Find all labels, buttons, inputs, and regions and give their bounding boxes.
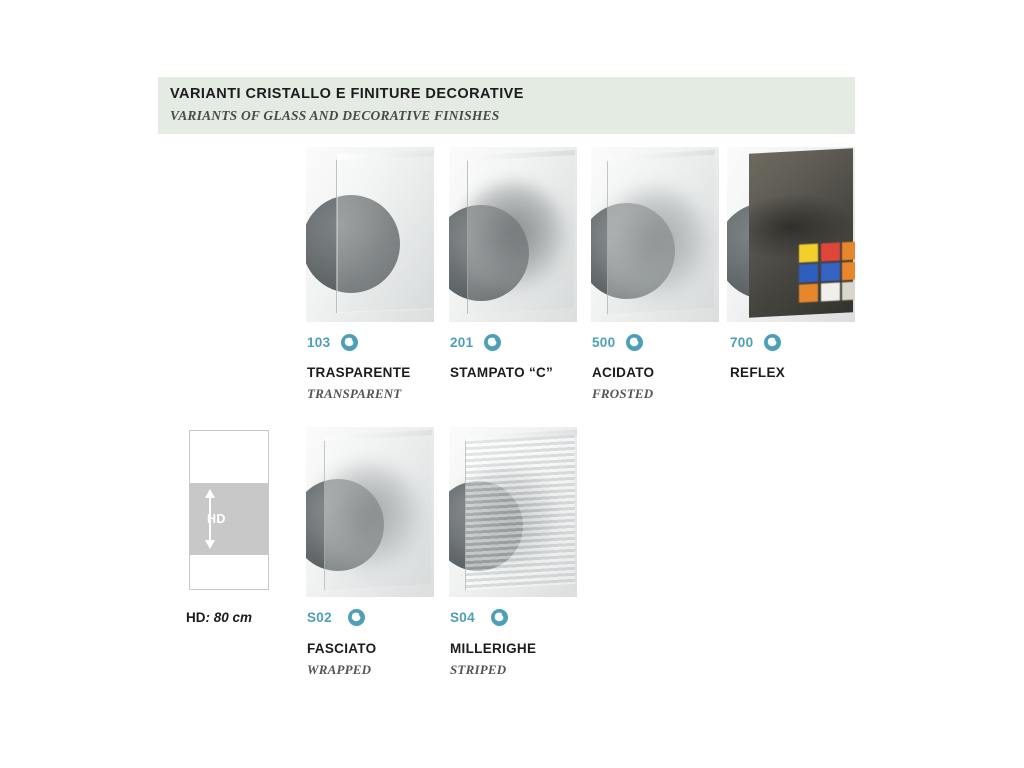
finish-name-S04: MILLERIGHE <box>450 641 536 656</box>
hd-caption: HD: 80 cm <box>186 610 252 625</box>
color-chip <box>799 244 818 263</box>
finish-name-500: ACIDATO <box>592 365 654 380</box>
color-chip <box>799 284 818 303</box>
swatch-fasciato <box>306 427 434 597</box>
glass-sample-icon <box>348 609 365 626</box>
finish-code-S04: S04 <box>450 610 475 625</box>
finish-english-500: FROSTED <box>592 386 653 402</box>
swatch-scene <box>449 147 577 322</box>
glass-sample-icon <box>626 334 643 351</box>
glass-sample-icon <box>491 609 508 626</box>
swatch-acidato <box>591 147 719 322</box>
glass-panel <box>467 152 574 314</box>
page-title: VARIANTI CRISTALLO E FINITURE DECORATIVE <box>170 86 524 102</box>
swatch-scene <box>727 147 855 322</box>
finish-english-103: TRANSPARENT <box>307 386 401 402</box>
finish-code-S02: S02 <box>307 610 332 625</box>
swatch-millerighe <box>449 427 577 597</box>
finish-name-201: STAMPATO “C” <box>450 365 553 380</box>
swatch-scene <box>306 147 434 322</box>
finish-code-500: 500 <box>592 335 615 350</box>
finish-name-S02: FASCIATO <box>307 641 376 656</box>
finish-code-201: 201 <box>450 335 473 350</box>
swatch-scene <box>306 427 434 597</box>
hd-diagram-label: HD <box>207 512 226 526</box>
swatch-scene <box>449 427 577 597</box>
color-chip <box>821 263 840 282</box>
finish-name-103: TRASPARENTE <box>307 365 411 380</box>
color-chip <box>842 262 855 281</box>
glass-sample-icon <box>341 334 358 351</box>
finish-name-700: REFLEX <box>730 365 785 380</box>
finish-english-S02: WRAPPED <box>307 662 371 678</box>
glass-overlay <box>465 432 576 591</box>
color-chip <box>821 243 840 262</box>
color-chip <box>842 282 855 301</box>
hd-diagram-band <box>190 483 268 555</box>
swatch-scene <box>591 147 719 322</box>
color-chart <box>799 241 855 302</box>
hd-caption-key: HD <box>186 610 206 625</box>
glass-panel <box>324 432 431 590</box>
hd-caption-value: : 80 cm <box>206 610 253 625</box>
color-chip <box>799 264 818 283</box>
catalog-page: VARIANTI CRISTALLO E FINITURE DECORATIVE… <box>0 0 1024 768</box>
color-chip <box>842 241 855 260</box>
glass-sample-icon <box>484 334 501 351</box>
page-subtitle: VARIANTS OF GLASS AND DECORATIVE FINISHE… <box>170 108 499 124</box>
glass-sample-icon <box>764 334 781 351</box>
finish-code-103: 103 <box>307 335 330 350</box>
swatch-stampato-c <box>449 147 577 322</box>
swatch-trasparente <box>306 147 434 322</box>
finish-code-700: 700 <box>730 335 753 350</box>
glass-panel <box>336 151 434 313</box>
color-chip <box>821 283 840 302</box>
finish-english-S04: STRIPED <box>450 662 506 678</box>
swatch-reflex <box>727 147 855 322</box>
glass-panel <box>607 152 714 314</box>
